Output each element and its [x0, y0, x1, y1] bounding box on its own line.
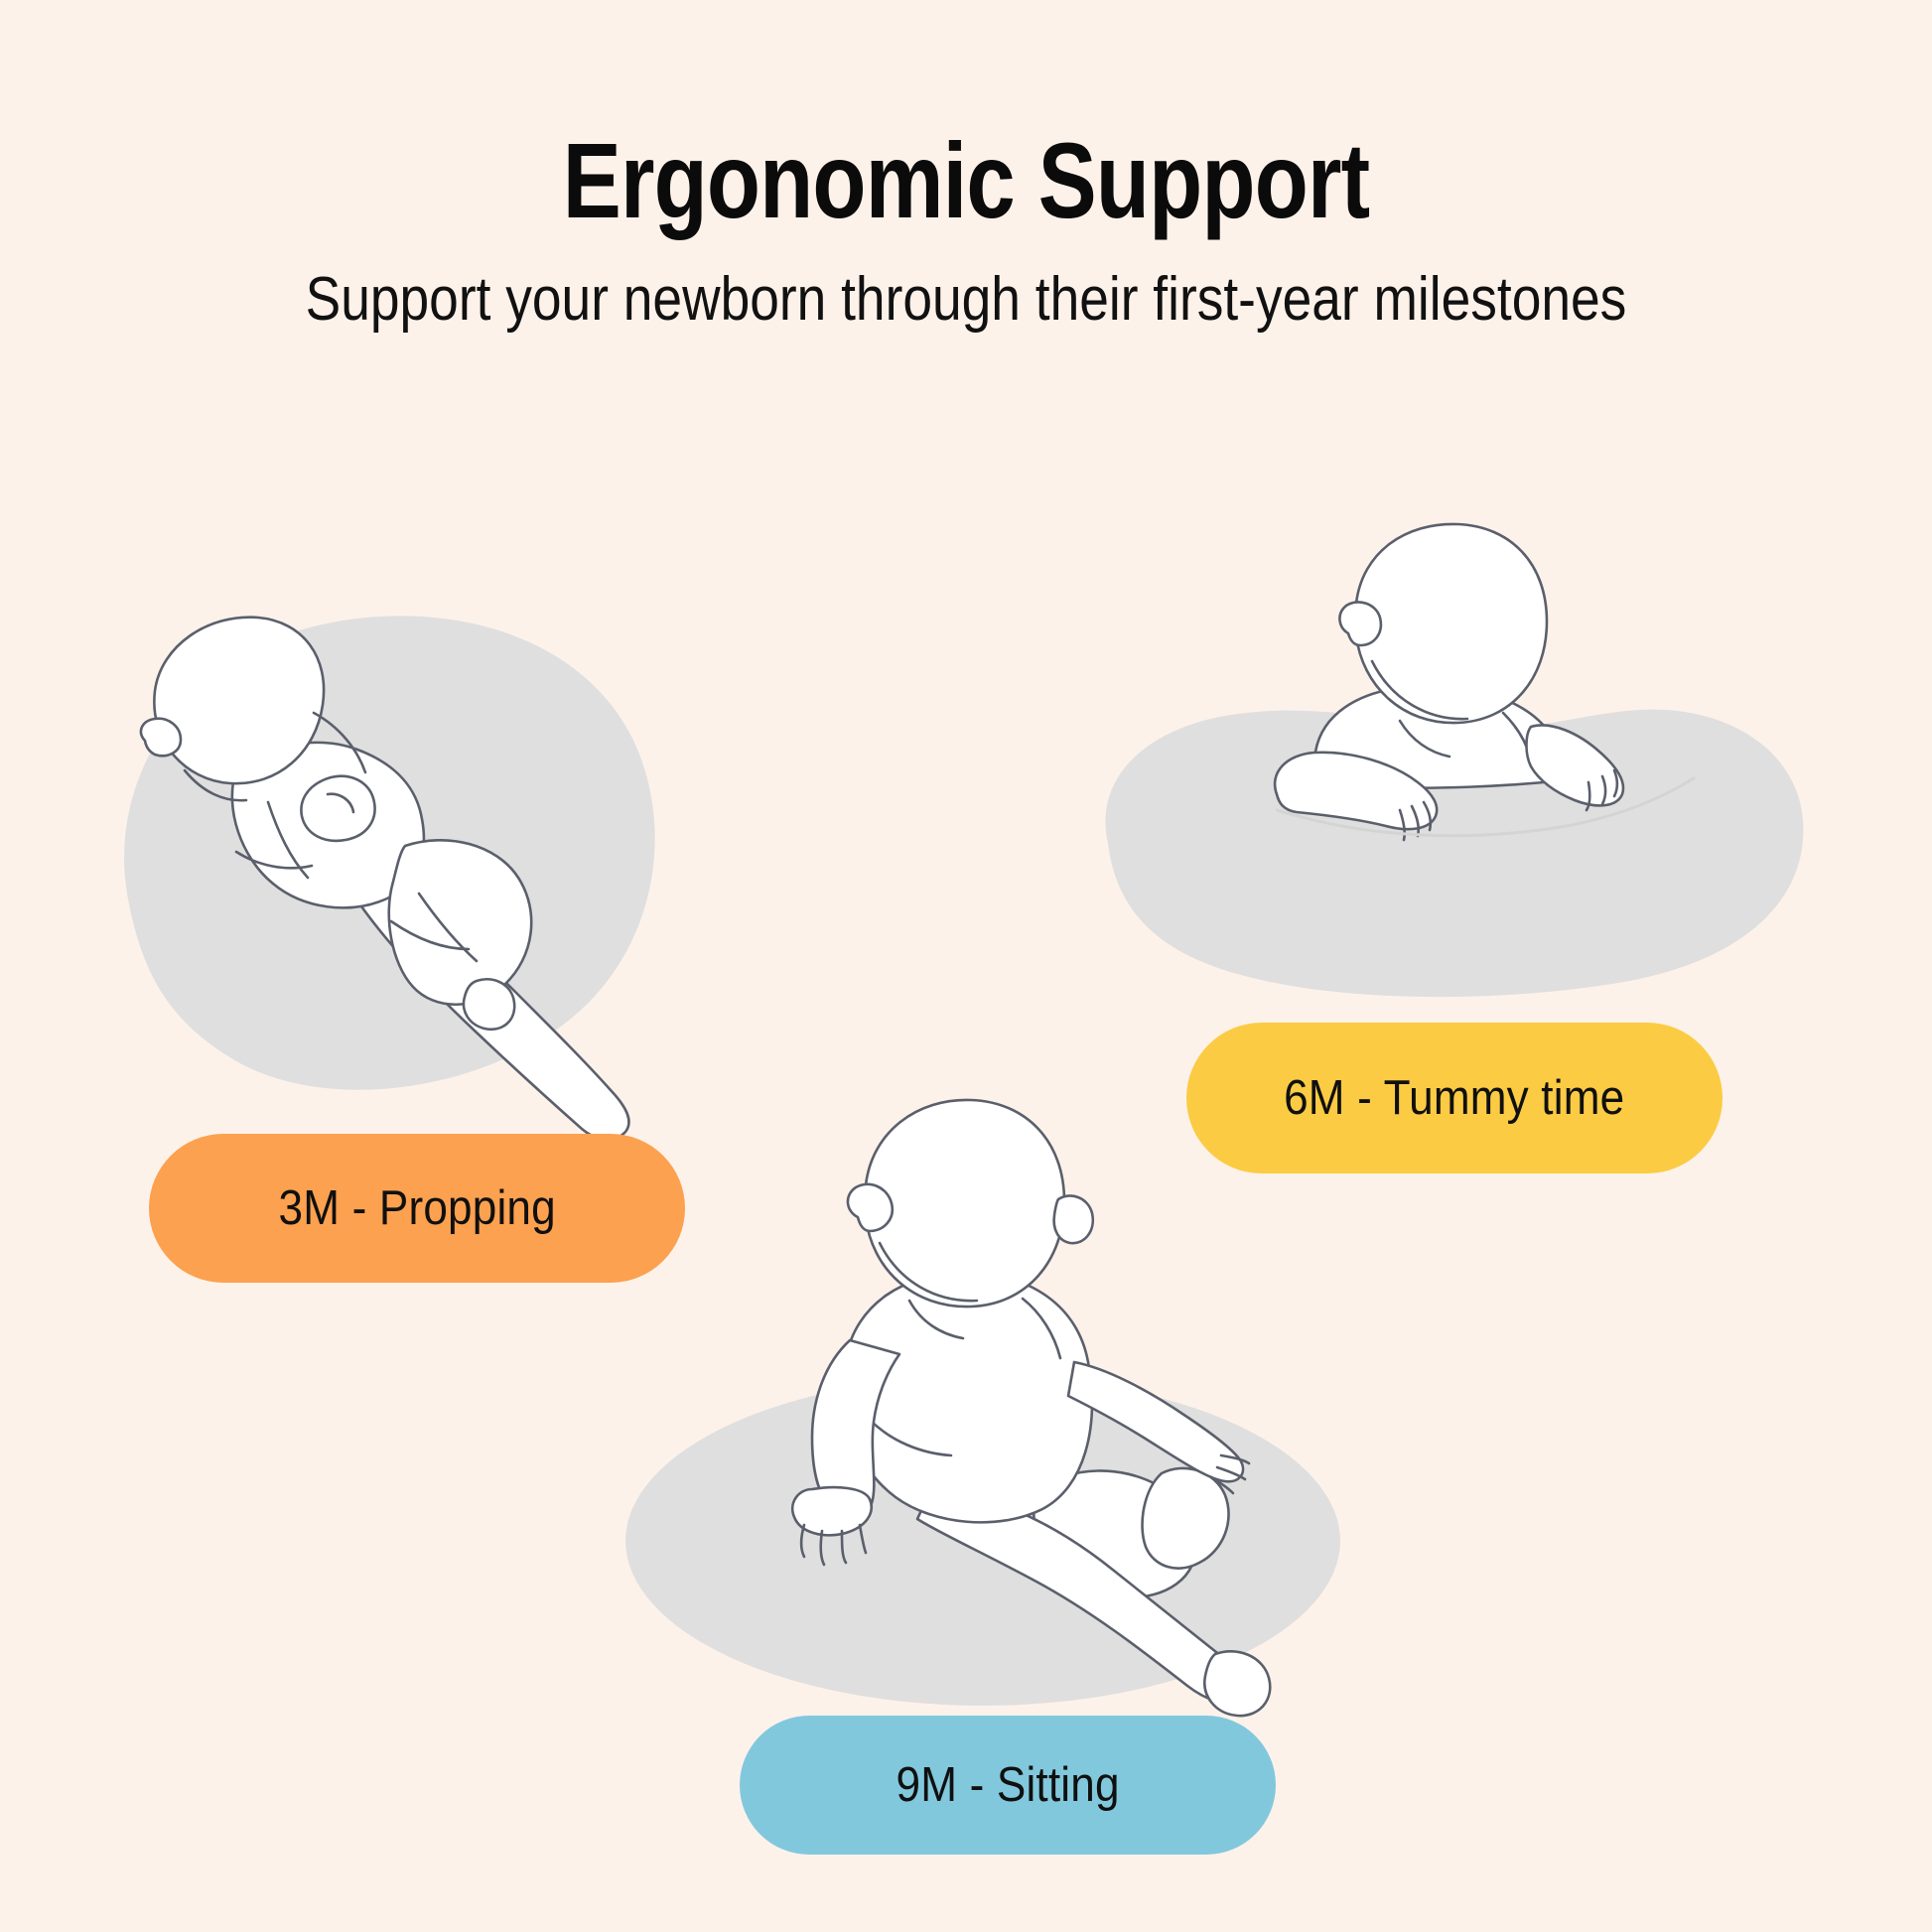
- baby-head-sitting: [865, 1100, 1064, 1307]
- baby-left-ear-sitting: [848, 1184, 893, 1231]
- milestone-badge-propping[interactable]: 3M - Propping: [149, 1134, 685, 1283]
- milestone-label-sitting: 9M - Sitting: [896, 1757, 1119, 1813]
- baby-head-propping: [154, 618, 324, 784]
- baby-arm-propping: [301, 776, 374, 841]
- milestone-label-tummy-time: 6M - Tummy time: [1284, 1070, 1624, 1126]
- page-title: Ergonomic Support: [174, 0, 1758, 234]
- milestone-label-propping: 3M - Propping: [278, 1180, 555, 1236]
- infographic-canvas: Ergonomic Support Support your newborn t…: [0, 0, 1932, 1932]
- baby-ear-tummy: [1339, 602, 1380, 645]
- milestone-badge-sitting[interactable]: 9M - Sitting: [740, 1716, 1276, 1855]
- page-subtitle: Support your newborn through their first…: [135, 234, 1797, 335]
- illustration-propping: [119, 596, 675, 1152]
- header: Ergonomic Support Support your newborn t…: [0, 0, 1932, 335]
- baby-right-ear-sitting: [1054, 1195, 1093, 1243]
- baby-foot-propping: [464, 979, 514, 1030]
- baby-ear-propping: [141, 719, 181, 756]
- milestone-badge-tummy-time[interactable]: 6M - Tummy time: [1186, 1023, 1723, 1173]
- illustration-tummy-time: [1102, 516, 1817, 1052]
- illustration-sitting: [606, 1092, 1360, 1737]
- baby-near-foot-sitting: [1204, 1651, 1270, 1716]
- baby-torso-sitting: [843, 1273, 1091, 1522]
- baby-head-tummy: [1355, 524, 1547, 723]
